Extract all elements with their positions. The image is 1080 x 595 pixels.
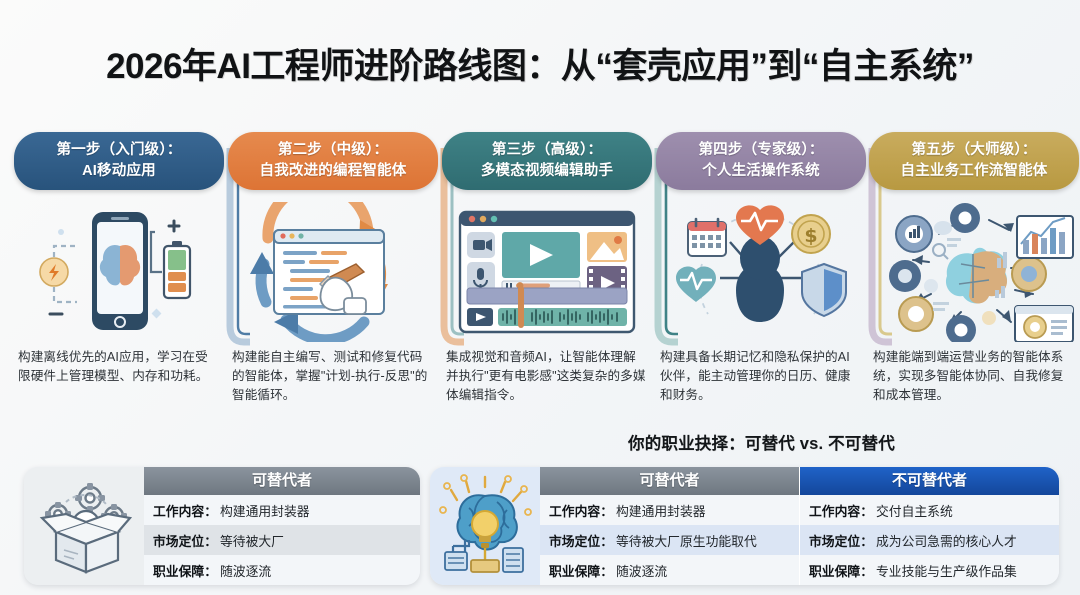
step-3-illustration [442, 202, 652, 342]
step-card-3: 第三步（高级）： 多模态视频编辑助手 [442, 132, 652, 422]
step-1-heading-line1: 第一步（入门级）： [20, 140, 218, 161]
step-4-illustration: $ [656, 202, 866, 342]
column-irreplaceable: 不可替代者 工作内容： 交付自主系统 市场定位： 成为公司急需的核心人才 职业保… [799, 467, 1059, 585]
table-row: 工作内容： 构建通用封装器 [144, 495, 420, 525]
table-row: 职业保障： 随波逐流 [540, 555, 799, 585]
replaceable-panel-left: API 可替代者 工作内容： 构建通用封装器 市场定位： 等待被大厂 [24, 467, 420, 585]
api-box-gears-icon: API [24, 467, 144, 585]
infographic-page: 2026年AI工程师进阶路线图：从“套壳应用”到“自主系统” 第一步（入门级）：… [0, 0, 1080, 595]
choice-heading: 你的职业抉择：可替代 vs. 不可替代 [628, 430, 895, 454]
row-value: 构建通用封装器 [220, 501, 310, 520]
row-key: 市场定位： [153, 531, 217, 550]
row-value: 等待被大厂 [220, 531, 284, 550]
column-header-replaceable: 可替代者 [540, 467, 799, 495]
step-5-description: 构建能端到端运营业务的智能体系统，实现多智能体协同、自我修复和成本管理。 [873, 348, 1073, 405]
row-value: 交付自主系统 [876, 501, 953, 520]
step-4-heading-line2: 个人生活操作系统 [662, 161, 860, 182]
row-value: 成为公司急需的核心人才 [876, 531, 1017, 550]
step-2-heading-line2: 自我改进的编程智能体 [234, 161, 432, 182]
svg-text:$: $ [804, 225, 817, 247]
step-3-description: 集成视觉和音频AI，让智能体理解并执行"更有电影感"这类复杂的多媒体编辑指令。 [446, 348, 646, 405]
column-replaceable: 可替代者 工作内容： 构建通用封装器 市场定位： 等待被大厂原生功能取代 职业保… [540, 467, 799, 585]
step-5-heading-line2: 自主业务工作流智能体 [875, 161, 1073, 182]
row-key: 职业保障： [153, 561, 217, 580]
step-card-5: 第五步（大师级）： 自主业务工作流智能体 [869, 132, 1079, 422]
step-1-description: 构建离线优先的AI应用，学习在受限硬件上管理模型、内存和功耗。 [18, 348, 218, 386]
step-1-header: 第一步（入门级）： AI移动应用 [14, 132, 224, 190]
step-4-header: 第四步（专家级）： 个人生活操作系统 [656, 132, 866, 190]
row-value: 专业技能与生产级作品集 [876, 561, 1017, 580]
step-card-4: 第四步（专家级）： 个人生活操作系统 [656, 132, 866, 422]
row-value: 等待被大厂原生功能取代 [616, 531, 757, 550]
step-4-heading-line1: 第四步（专家级）： [662, 140, 860, 161]
row-value: 随波逐流 [616, 561, 667, 580]
row-key: 职业保障： [809, 561, 873, 580]
step-1-illustration [14, 202, 224, 342]
step-4-description: 构建具备长期记忆和隐私保护的AI伙伴，能主动管理你的日历、健康和财务。 [660, 348, 860, 405]
table-row: 工作内容： 构建通用封装器 [540, 495, 799, 525]
step-card-2: 第二步（中级）： 自我改进的编程智能体 [228, 132, 438, 422]
step-5-heading-line1: 第五步（大师级）： [875, 140, 1073, 161]
column-header-irreplaceable: 不可替代者 [800, 467, 1059, 495]
step-card-1: 第一步（入门级）： AI移动应用 [14, 132, 224, 422]
step-2-description: 构建能自主编写、测试和修复代码的智能体，掌握"计划-执行-反思"的智能循环。 [232, 348, 432, 405]
row-key: 市场定位： [809, 531, 873, 550]
step-2-header: 第二步（中级）： 自我改进的编程智能体 [228, 132, 438, 190]
left-table: 可替代者 工作内容： 构建通用封装器 市场定位： 等待被大厂 职业保障： 随波逐… [144, 467, 420, 585]
row-key: 工作内容： [549, 501, 613, 520]
steps-row: 第一步（入门级）： AI移动应用 [0, 132, 1080, 422]
row-key: 工作内容： [809, 501, 873, 520]
table-row: 市场定位： 等待被大厂 [144, 525, 420, 555]
row-value: 构建通用封装器 [616, 501, 706, 520]
row-value: 随波逐流 [220, 561, 271, 580]
step-1-heading-line2: AI移动应用 [20, 161, 218, 182]
step-5-header: 第五步（大师级）： 自主业务工作流智能体 [869, 132, 1079, 190]
step-5-illustration [869, 202, 1079, 342]
row-key: 市场定位： [549, 531, 613, 550]
table-row: 市场定位： 成为公司急需的核心人才 [800, 525, 1059, 555]
table-row: 工作内容： 交付自主系统 [800, 495, 1059, 525]
step-3-header: 第三步（高级）： 多模态视频编辑助手 [442, 132, 652, 190]
comparison-panel-right: 可替代者 工作内容： 构建通用封装器 市场定位： 等待被大厂原生功能取代 职业保… [430, 467, 1059, 585]
table-row: 市场定位： 等待被大厂原生功能取代 [540, 525, 799, 555]
step-3-heading-line1: 第三步（高级）： [448, 140, 646, 161]
left-table-column-replaceable: 可替代者 工作内容： 构建通用封装器 市场定位： 等待被大厂 职业保障： 随波逐… [144, 467, 420, 585]
left-column-header: 可替代者 [144, 467, 420, 495]
table-row: 职业保障： 随波逐流 [144, 555, 420, 585]
table-row: 职业保障： 专业技能与生产级作品集 [800, 555, 1059, 585]
row-key: 工作内容： [153, 501, 217, 520]
step-2-heading-line1: 第二步（中级）： [234, 140, 432, 161]
step-3-heading-line2: 多模态视频编辑助手 [448, 161, 646, 182]
page-title: 2026年AI工程师进阶路线图：从“套壳应用”到“自主系统” [0, 38, 1080, 89]
brain-lightbulb-icon [430, 467, 540, 585]
comparison-table: 可替代者 工作内容： 构建通用封装器 市场定位： 等待被大厂原生功能取代 职业保… [540, 467, 1059, 585]
step-2-illustration [228, 202, 438, 342]
row-key: 职业保障： [549, 561, 613, 580]
